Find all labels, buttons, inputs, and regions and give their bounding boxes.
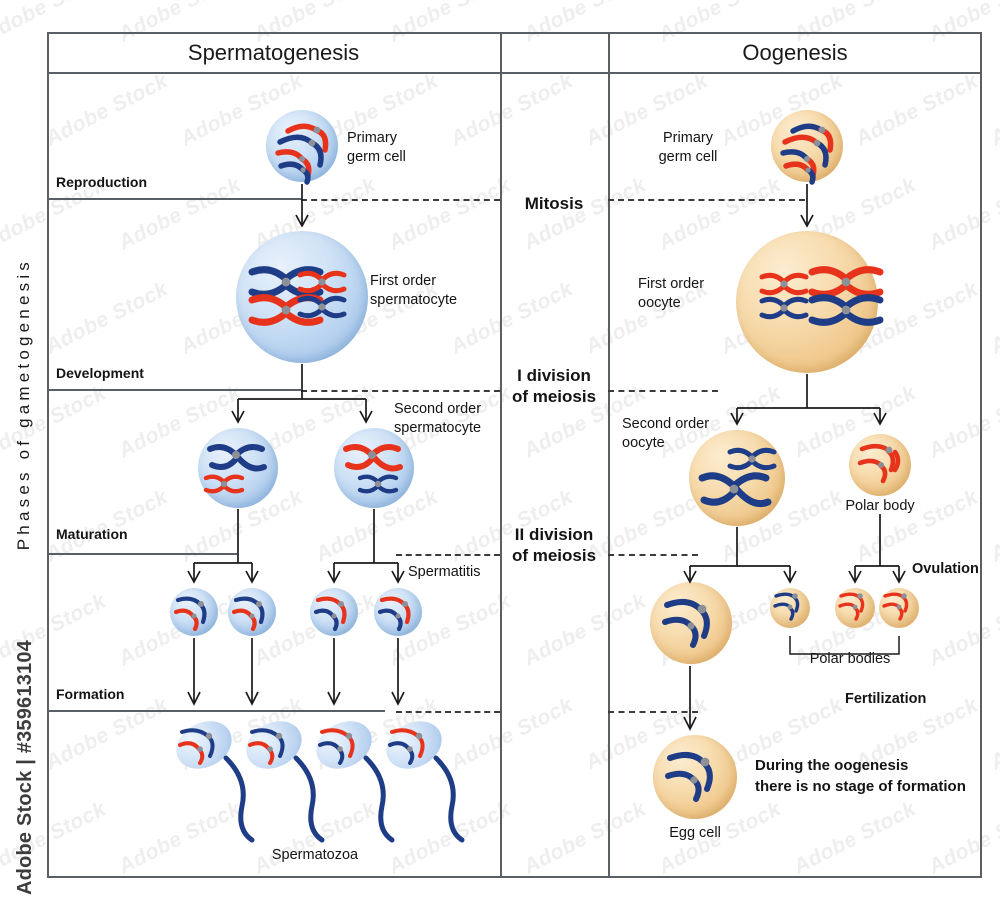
- diagram-canvas: Adobe StockAdobe StockAdobe StockAdobe S…: [0, 0, 1000, 910]
- connectors-oogenesis: [0, 0, 1000, 910]
